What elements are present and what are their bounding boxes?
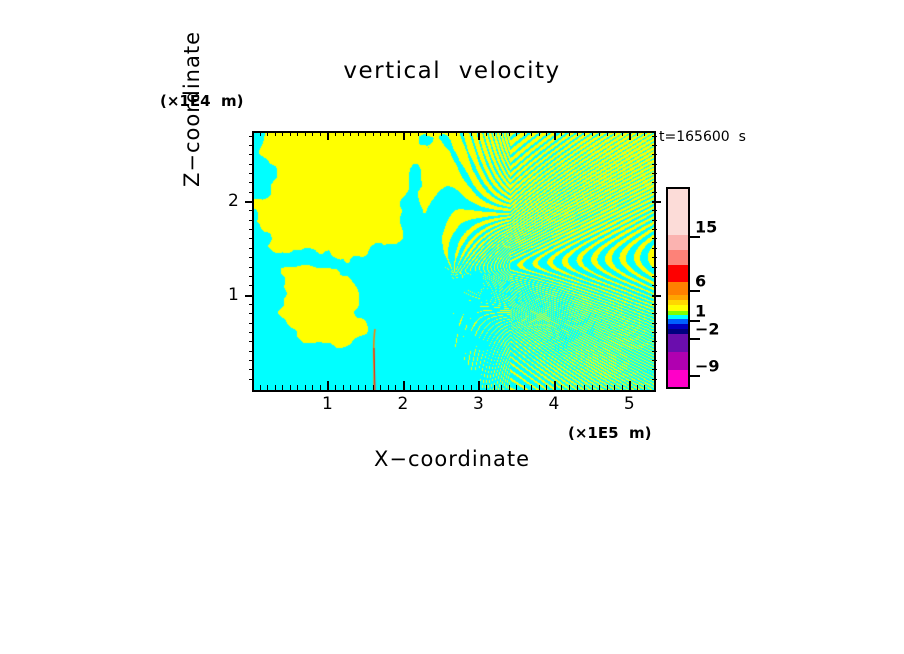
y-tick-right [652,182,657,183]
x-tick-top [478,131,480,140]
x-tick-top [343,131,344,136]
x-tick-top [260,131,261,136]
y-tick [245,201,254,203]
x-tick [395,385,396,390]
x-tick [418,385,419,390]
x-tick [441,385,442,390]
x-tick [629,381,631,390]
x-tick [403,381,405,390]
x-tick [297,385,298,390]
y-tick [249,332,254,333]
x-tick [463,385,464,390]
x-tick [592,385,593,390]
x-tick-top [516,131,517,136]
x-tick-top [305,131,306,136]
x-tick-label: 1 [322,394,333,414]
x-tick-top [395,131,396,136]
x-tick [531,385,532,390]
colorbar-label: 6 [695,272,706,291]
x-tick-top [327,131,329,140]
colorbar-band [668,282,688,295]
y-tick [249,285,254,286]
x-tick [614,385,615,390]
x-axis-unit-label: (×1E5 m) [568,424,651,442]
x-tick [644,385,645,390]
x-tick [305,385,306,390]
x-tick-top [531,131,532,136]
y-tick [249,313,254,314]
y-tick-right [652,285,657,286]
x-tick-top [380,131,381,136]
colorbar-band [668,352,688,370]
page-title: vertical velocity [0,58,904,84]
x-tick-top [335,131,336,136]
y-tick [249,154,254,155]
x-tick-top [282,131,283,136]
x-tick [501,385,502,390]
x-tick-top [607,131,608,136]
colorbar-band [668,370,688,387]
x-tick-top [418,131,419,136]
x-tick [577,385,578,390]
x-tick [471,385,472,390]
y-tick-right [652,323,657,324]
y-tick-right [652,332,657,333]
x-tick-top [629,131,631,140]
y-tick [249,304,254,305]
x-tick [546,385,547,390]
y-tick-right [652,154,657,155]
x-tick [637,385,638,390]
x-tick-top [637,131,638,136]
x-tick-top [471,131,472,136]
x-tick-top [546,131,547,136]
x-tick-top [561,131,562,136]
y-tick [249,182,254,183]
x-tick-top [509,131,510,136]
x-tick [388,385,389,390]
colorbar-legend[interactable] [666,187,690,389]
x-tick [343,385,344,390]
y-tick [249,210,254,211]
x-tick [320,385,321,390]
x-tick-top [358,131,359,136]
x-tick [282,385,283,390]
y-tick [249,257,254,258]
x-tick-top [433,131,434,136]
colorbar-band [668,334,688,352]
x-tick-top [599,131,600,136]
y-tick [249,220,254,221]
x-tick [373,385,374,390]
x-tick [494,385,495,390]
x-tick [260,385,261,390]
x-tick-top [644,131,645,136]
x-tick-top [614,131,615,136]
y-axis-title: Z−coordinate [180,9,214,209]
x-tick [290,385,291,390]
x-tick [426,385,427,390]
x-tick [456,385,457,390]
colorbar-label: −2 [695,320,720,339]
y-tick [249,369,254,370]
y-tick [249,379,254,380]
x-tick [509,385,510,390]
y-tick-right [652,313,657,314]
x-tick-top [373,131,374,136]
y-tick-right [652,341,657,342]
x-tick [267,385,268,390]
y-tick [249,145,254,146]
x-tick [365,385,366,390]
y-tick-right [652,304,657,305]
x-tick [380,385,381,390]
x-tick-top [410,131,411,136]
x-tick-top [554,131,556,140]
y-tick-right [652,248,657,249]
y-tick-right [652,145,657,146]
y-tick [249,341,254,342]
x-tick-top [388,131,389,136]
y-tick-right [652,220,657,221]
y-tick [249,360,254,361]
colorbar-label: 15 [695,218,717,237]
x-tick [448,385,449,390]
y-tick-right [652,136,657,137]
y-tick-right [652,238,657,239]
y-tick-right [652,276,657,277]
x-tick [622,385,623,390]
y-tick [249,238,254,239]
x-tick [275,385,276,390]
x-tick-top [297,131,298,136]
x-tick-top [365,131,366,136]
x-tick-top [267,131,268,136]
x-tick [358,385,359,390]
x-tick-label: 2 [398,394,409,414]
colorbar-band [668,235,688,250]
colorbar-label: 1 [695,302,706,321]
colorbar-band [668,250,688,265]
x-tick-top [441,131,442,136]
x-tick-top [320,131,321,136]
x-tick-top [350,131,351,136]
x-tick-top [501,131,502,136]
x-tick [350,385,351,390]
x-tick-top [448,131,449,136]
y-tick [249,136,254,137]
y-tick [249,248,254,249]
y-tick-right [652,257,657,258]
y-tick-right [652,369,657,370]
x-tick-top [592,131,593,136]
y-tick-right [652,173,657,174]
x-tick-top [403,131,405,140]
y-tick-right [652,360,657,361]
x-tick-top [463,131,464,136]
y-tick-right [652,164,657,165]
x-tick-top [569,131,570,136]
x-tick [599,385,600,390]
colorbar-label: −9 [695,357,720,376]
x-tick [410,385,411,390]
x-tick-top [426,131,427,136]
y-tick-right [652,192,657,193]
x-tick-top [275,131,276,136]
y-tick-right [652,210,657,211]
x-tick [569,385,570,390]
y-tick-right [652,267,657,268]
x-tick [607,385,608,390]
x-axis-title: X−coordinate [0,447,904,471]
x-tick-top [524,131,525,136]
y-tick [249,351,254,352]
x-tick-top [456,131,457,136]
colorbar-band [668,189,688,235]
x-tick [524,385,525,390]
figure-canvas: vertical velocity (×1E4 m) t=165600 s (×… [0,0,904,654]
x-tick [516,385,517,390]
y-tick-right [652,295,661,297]
x-tick-top [290,131,291,136]
x-tick-label: 5 [624,394,635,414]
x-tick [327,381,329,390]
x-tick-top [539,131,540,136]
vertical-velocity-field [254,133,654,390]
colorbar-band [668,265,688,282]
y-tick-right [652,351,657,352]
x-tick [554,381,556,390]
x-tick-top [584,131,585,136]
y-tick [249,164,254,165]
y-tick [249,173,254,174]
y-tick [249,276,254,277]
y-tick [249,192,254,193]
x-tick [312,385,313,390]
time-annotation: t=165600 s [659,129,746,145]
x-tick-top [312,131,313,136]
x-tick-top [577,131,578,136]
y-tick [245,295,254,297]
x-tick [584,385,585,390]
x-tick [539,385,540,390]
heatmap-plot-area[interactable] [252,131,656,392]
y-tick-right [652,229,657,230]
x-tick [335,385,336,390]
x-tick-top [622,131,623,136]
y-tick [249,323,254,324]
y-tick-label: 1 [228,285,239,305]
x-tick [433,385,434,390]
y-tick [249,229,254,230]
x-tick [478,381,480,390]
x-tick-top [486,131,487,136]
x-tick-label: 4 [548,394,559,414]
x-tick [486,385,487,390]
y-tick-label: 2 [228,191,239,211]
y-tick-right [652,379,657,380]
y-tick-right [652,201,661,203]
x-tick [561,385,562,390]
x-tick-top [494,131,495,136]
x-tick-label: 3 [473,394,484,414]
y-tick [249,267,254,268]
